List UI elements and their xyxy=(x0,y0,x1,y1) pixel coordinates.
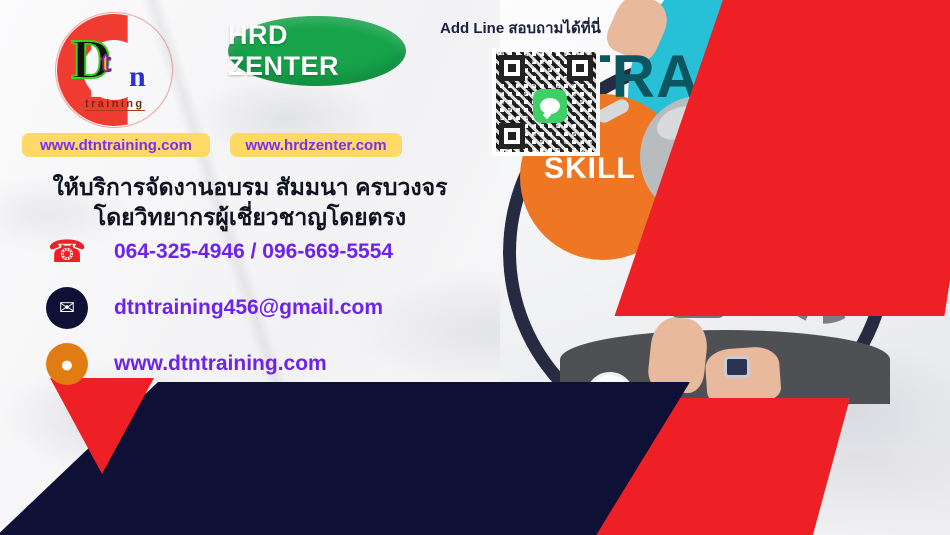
headline-line-1: ให้บริการจัดงานอบรม สัมมนา ครบวงจร xyxy=(0,172,500,202)
qr-finder-top-left xyxy=(499,55,525,81)
line-qr-code[interactable] xyxy=(492,48,600,156)
hrd-zenter-logo-text: HRD ZENTER xyxy=(228,20,406,82)
contact-website-value[interactable]: www.dtntraining.com xyxy=(114,352,327,376)
dtn-logo-letter-t: t xyxy=(101,48,111,77)
hrd-zenter-logo[interactable]: HRD ZENTER xyxy=(228,16,406,86)
location-pin-icon: ● xyxy=(46,343,88,385)
hrd-website-badge[interactable]: www.hrdzenter.com xyxy=(230,133,402,157)
add-line-heading: Add Line สอบถามได้ที่นี่ xyxy=(440,16,660,40)
headline-block: ให้บริการจัดงานอบรม สัมมนา ครบวงจร โดยวิ… xyxy=(0,172,500,232)
dtn-logo-tagline: training xyxy=(85,98,145,111)
contact-info-list: ☎ 064-325-4946 / 096-669-5554 ✉ dtntrain… xyxy=(46,228,476,396)
qr-finder-bottom-left xyxy=(499,123,525,149)
dtn-training-logo[interactable]: D t n training xyxy=(45,8,185,130)
envelope-icon: ✉ xyxy=(46,287,88,329)
phone-icon: ☎ xyxy=(46,231,88,273)
wristwatch xyxy=(724,356,750,378)
contact-row-website: ● www.dtntraining.com xyxy=(46,340,476,388)
qr-finder-top-right xyxy=(567,55,593,81)
contact-row-phone: ☎ 064-325-4946 / 096-669-5554 xyxy=(46,228,476,276)
line-app-icon xyxy=(533,89,567,123)
contact-row-email: ✉ dtntraining456@gmail.com xyxy=(46,284,476,332)
dtn-logo-letter-n: n xyxy=(129,62,146,92)
collage-word-skill: SKILL xyxy=(544,152,636,186)
contact-phone-value[interactable]: 064-325-4946 / 096-669-5554 xyxy=(114,240,393,264)
qr-code-pattern xyxy=(496,52,596,152)
contact-email-value[interactable]: dtntraining456@gmail.com xyxy=(114,296,383,320)
promotional-banner: TRAINING SKILL DEVELOP D t n training HR… xyxy=(0,0,950,535)
line-chat-bubble xyxy=(540,98,560,114)
dtn-website-badge[interactable]: www.dtntraining.com xyxy=(22,133,210,157)
